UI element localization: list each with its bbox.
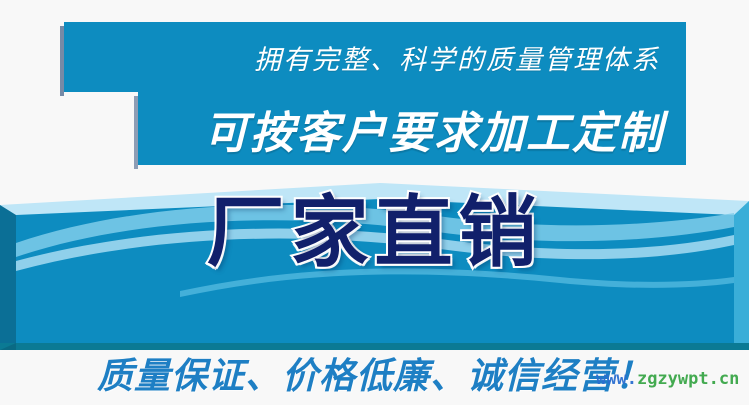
banner-line2-text: 可按客户要求加工定制	[204, 97, 664, 161]
banner-line1-text: 拥有完整、科学的质量管理体系	[254, 38, 660, 77]
promo-poster: 拥有完整、科学的质量管理体系 可按客户要求加工定制 厂家直销 质量保证、价格低廉…	[0, 0, 749, 405]
banner-quality-system: 拥有完整、科学的质量管理体系	[64, 22, 686, 92]
watermark-prefix: www.	[596, 369, 637, 389]
banner-custom-manufacturing: 可按客户要求加工定制	[138, 92, 686, 165]
page-title: 厂家直销	[0, 193, 749, 271]
site-watermark: www.zgzywpt.cn	[596, 369, 739, 389]
wave-bottom-border	[0, 343, 749, 350]
watermark-domain: zgzywpt.cn	[637, 369, 739, 389]
